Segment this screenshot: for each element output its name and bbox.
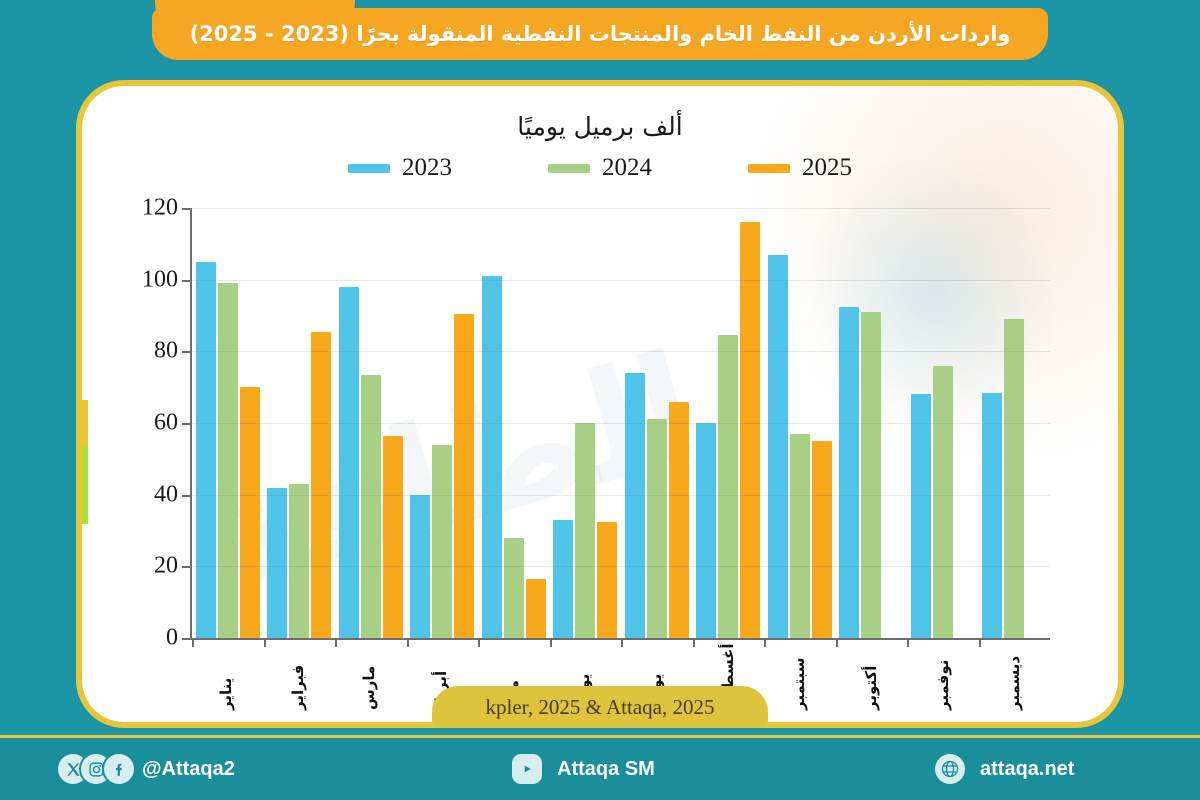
footer-social-group: @Attaqa2: [58, 754, 235, 784]
source-label: kpler, 2025 & Attaqa, 2025: [486, 695, 715, 720]
y-axis-label: 100: [142, 266, 178, 293]
youtube-icon[interactable]: [512, 754, 542, 784]
bar-2025-يوليو[interactable]: [669, 402, 689, 639]
bar-2025-أبريل[interactable]: [454, 314, 474, 638]
bar-2023-ديسمبر[interactable]: [982, 393, 1002, 638]
grid-line: [192, 566, 1050, 567]
bar-2024-فبراير[interactable]: [289, 484, 309, 638]
y-axis-tick: [182, 280, 192, 282]
bar-2023-يونيو[interactable]: [553, 520, 573, 638]
plot-area-wrapper: 020406080100120 ينايرفبرايرمارسأبريلمايو…: [82, 86, 1118, 722]
y-axis-tick: [182, 566, 192, 568]
bar-2025-سبتمبر[interactable]: [812, 441, 832, 638]
bar-2025-يونيو[interactable]: [597, 522, 617, 638]
x-label-cell: فبراير: [262, 642, 334, 712]
bar-2024-يونيو[interactable]: [575, 423, 595, 638]
y-axis-label: 0: [166, 625, 178, 652]
facebook-icon[interactable]: [104, 754, 134, 784]
bar-2025-مايو[interactable]: [526, 579, 546, 638]
x-label-cell: مارس: [333, 642, 405, 712]
x-axis-label-مارس: مارس: [360, 642, 378, 712]
bar-2023-مارس[interactable]: [339, 287, 359, 638]
y-axis-label: 80: [154, 338, 178, 365]
bar-2023-أغسطس[interactable]: [696, 423, 716, 638]
youtube-label: Attaqa SM: [557, 758, 655, 781]
x-label-cell: يناير: [190, 642, 262, 712]
bar-2024-ديسمبر[interactable]: [1004, 319, 1024, 638]
bar-2024-نوفمبر[interactable]: [933, 366, 953, 638]
bar-2023-نوفمبر[interactable]: [911, 394, 931, 638]
grid-line: [192, 423, 1050, 424]
bar-2025-أغسطس[interactable]: [740, 222, 760, 638]
bar-2025-مارس[interactable]: [383, 436, 403, 638]
bar-2023-فبراير[interactable]: [267, 488, 287, 639]
footer-website-group: attaqa.net: [935, 754, 1074, 784]
x-axis-label-ديسمبر: ديسمبر: [1005, 642, 1023, 712]
y-axis-label: 40: [154, 481, 178, 508]
x-label-cell: نوفمبر: [907, 642, 979, 712]
bar-2024-أغسطس[interactable]: [718, 335, 738, 638]
y-axis-tick: [182, 638, 192, 640]
x-label-cell: سبتمبر: [763, 642, 835, 712]
x-label-cell: ديسمبر: [978, 642, 1050, 712]
grid-line: [192, 495, 1050, 496]
x-label-cell: أكتوبر: [835, 642, 907, 712]
bar-2023-سبتمبر[interactable]: [768, 255, 788, 638]
bar-2024-يناير[interactable]: [218, 283, 238, 638]
bar-2024-يوليو[interactable]: [647, 419, 667, 638]
bar-2024-مايو[interactable]: [504, 538, 524, 638]
x-axis-label-سبتمبر: سبتمبر: [790, 642, 808, 712]
grid-line: [192, 280, 1050, 281]
x-axis-label-نوفمبر: نوفمبر: [934, 642, 952, 712]
globe-icon[interactable]: [935, 754, 965, 784]
y-axis-tick: [182, 423, 192, 425]
y-axis-tick: [182, 208, 192, 210]
bar-2023-يوليو[interactable]: [625, 373, 645, 638]
bar-2023-مايو[interactable]: [482, 276, 502, 638]
y-axis-label: 120: [142, 195, 178, 222]
bar-2025-فبراير[interactable]: [311, 332, 331, 638]
grid-line: [192, 208, 1050, 209]
y-axis-tick: [182, 351, 192, 353]
y-axis-label: 60: [154, 410, 178, 437]
bar-2025-يناير[interactable]: [240, 387, 260, 638]
bar-2024-سبتمبر[interactable]: [790, 434, 810, 638]
footer-youtube-group: Attaqa SM: [512, 754, 655, 784]
y-axis-tick: [182, 495, 192, 497]
source-banner: kpler, 2025 & Attaqa, 2025: [432, 686, 768, 728]
bar-2023-يناير[interactable]: [196, 262, 216, 638]
x-axis-label-أكتوبر: أكتوبر: [862, 642, 880, 712]
y-axis-label: 20: [154, 553, 178, 580]
bar-2024-أبريل[interactable]: [432, 445, 452, 639]
chart-card: الطاقة ألف برميل يوميًا 202320242025 020…: [76, 80, 1124, 728]
footer-bar: @Attaqa2 Attaqa SM attaqa.net: [0, 735, 1200, 800]
plot-area: 020406080100120: [190, 208, 1050, 640]
bar-2024-أكتوبر[interactable]: [861, 312, 881, 638]
social-handle-label: @Attaqa2: [142, 758, 235, 781]
infographic-root: واردات الأردن من النفط الخام والمنتجات ا…: [0, 0, 1200, 800]
x-axis-label-فبراير: فبراير: [289, 642, 307, 712]
x-axis-label-يناير: يناير: [217, 642, 235, 712]
grid-line: [192, 351, 1050, 352]
chart-title-banner: واردات الأردن من النفط الخام والمنتجات ا…: [152, 8, 1048, 60]
page-title: واردات الأردن من النفط الخام والمنتجات ا…: [190, 22, 1011, 46]
website-label: attaqa.net: [980, 758, 1074, 781]
bar-2023-أكتوبر[interactable]: [839, 307, 859, 638]
bar-2024-مارس[interactable]: [361, 375, 381, 638]
social-icon-stack: [58, 754, 127, 784]
